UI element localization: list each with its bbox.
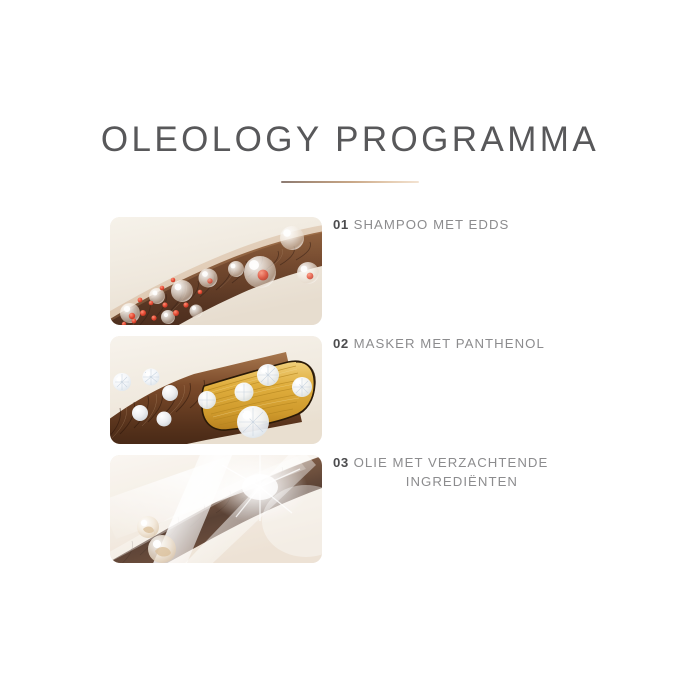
- list-item: 03 OLIE MET VERZACHTENDE INGREDIËNTEN: [110, 455, 630, 563]
- steps-list: 01 SHAMPOO MET EDDS: [110, 217, 630, 563]
- hair-cortex-with-panthenol-crystals-illustration: [110, 336, 322, 444]
- list-item: 01 SHAMPOO MET EDDS: [110, 217, 630, 325]
- shiny-hair-strand-with-oil-droplets-illustration: [110, 455, 322, 563]
- step-label: OLIE MET VERZACHTENDE: [354, 455, 549, 470]
- step-image-3: [110, 455, 322, 563]
- step-number: 01: [333, 217, 349, 232]
- step-label: MASKER MET PANTHENOL: [354, 336, 545, 351]
- step-caption-2: 02 MASKER MET PANTHENOL: [333, 334, 623, 353]
- step-caption-3: 03 OLIE MET VERZACHTENDE INGREDIËNTEN: [333, 453, 663, 491]
- page-title: OLEOLOGY PROGRAMMA: [0, 118, 700, 162]
- step-number: 03: [333, 455, 349, 470]
- step-label-line-2: INGREDIËNTEN: [333, 472, 519, 491]
- list-item: 02 MASKER MET PANTHENOL: [110, 336, 630, 444]
- step-label: SHAMPOO MET EDDS: [354, 217, 510, 232]
- step-image-1: [110, 217, 322, 325]
- step-image-2: [110, 336, 322, 444]
- step-caption-1: 01 SHAMPOO MET EDDS: [333, 215, 623, 234]
- step-number: 02: [333, 336, 349, 351]
- poster-canvas: OLEOLOGY PROGRAMMA: [0, 0, 700, 700]
- header: OLEOLOGY PROGRAMMA: [0, 118, 700, 183]
- title-divider: [281, 181, 419, 183]
- hair-strand-with-edds-bubbles-illustration: [110, 217, 322, 325]
